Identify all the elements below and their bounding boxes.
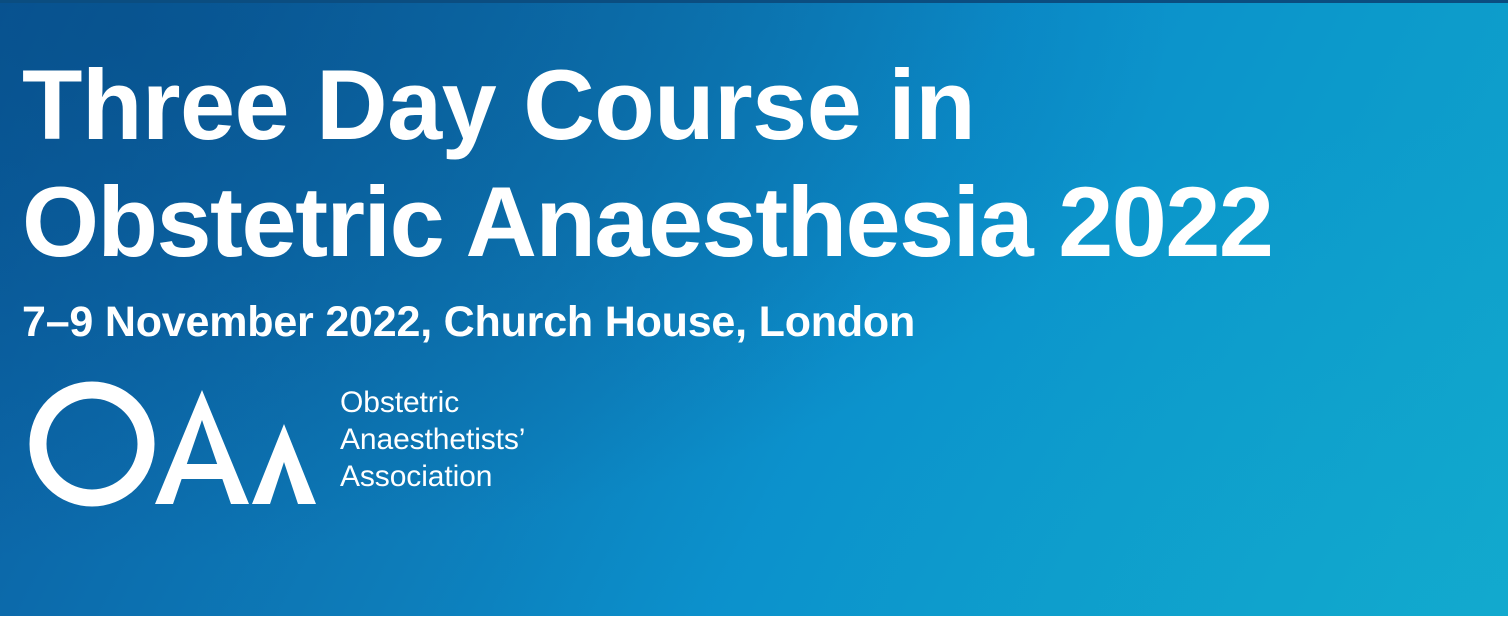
page-title-line-1: Three Day Course in: [22, 0, 1508, 163]
wordmark-line-1: Obstetric: [340, 384, 525, 421]
page-title-line-2: Obstetric Anaesthesia 2022: [22, 163, 1508, 280]
wordmark-line-2: Anaesthetists’: [340, 421, 525, 458]
event-banner: Three Day Course in Obstetric Anaesthesi…: [0, 0, 1508, 616]
oaa-logo-mark-icon: [26, 372, 326, 512]
wordmark-line-3: Association: [340, 458, 525, 495]
banner-content: Three Day Course in Obstetric Anaesthesi…: [0, 0, 1508, 512]
event-dates-and-venue: 7–9 November 2022, Church House, London: [22, 280, 1508, 348]
oaa-logo-lockup: Obstetric Anaesthetists’ Association: [22, 348, 1508, 512]
oaa-wordmark: Obstetric Anaesthetists’ Association: [340, 384, 525, 495]
top-edge-rule: [0, 0, 1508, 3]
